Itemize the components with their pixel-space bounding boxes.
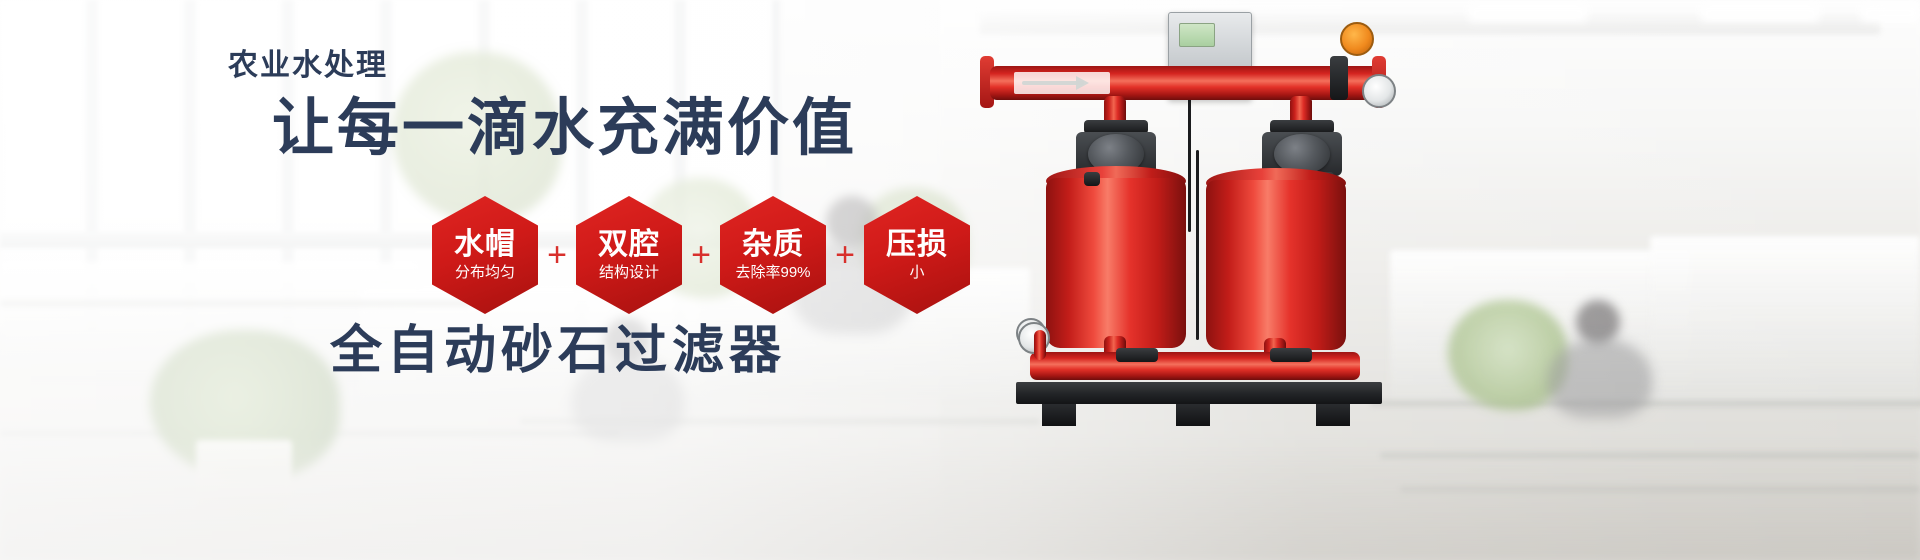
feature-title: 压损 bbox=[886, 229, 948, 261]
equipment-foot bbox=[1316, 404, 1350, 426]
equipment-cable bbox=[1196, 150, 1199, 340]
feature-title: 水帽 bbox=[454, 229, 516, 261]
product-banner: BAIYUAN bbox=[0, 0, 1920, 560]
feature-subtitle: 去除率99% bbox=[735, 265, 810, 282]
plus-separator: + bbox=[826, 238, 864, 272]
left-tank-body bbox=[1046, 178, 1186, 348]
controller-screen bbox=[1179, 23, 1215, 47]
product-subline: 全自动砂石过滤器 bbox=[330, 325, 786, 377]
hexagon-shape: 水帽 分布均匀 bbox=[432, 196, 538, 314]
feature-badge-3[interactable]: 压损 小 bbox=[864, 196, 970, 314]
feature-subtitle: 分布均匀 bbox=[455, 265, 515, 282]
feature-badge-1[interactable]: 双腔 结构设计 bbox=[576, 196, 682, 314]
gauge-stem bbox=[1034, 330, 1046, 360]
flow-arrow-shaft bbox=[1022, 81, 1084, 85]
left-tank-bolt bbox=[1084, 172, 1100, 186]
hexagon-shape: 杂质 去除率99% bbox=[720, 196, 826, 314]
manifold-collar bbox=[1270, 348, 1312, 362]
feature-badge-2[interactable]: 杂质 去除率99% bbox=[720, 196, 826, 314]
valve-collar bbox=[1330, 56, 1348, 100]
plus-separator: + bbox=[682, 238, 720, 272]
hexagon-shape: 压损 小 bbox=[864, 196, 970, 314]
feature-badge-row: 水帽 分布均匀 + 双腔 结构设计 + 杂质 去除率99% + bbox=[432, 196, 970, 314]
feature-subtitle: 小 bbox=[909, 265, 924, 282]
feature-subtitle: 结构设计 bbox=[599, 265, 659, 282]
equipment-foot bbox=[1176, 404, 1210, 426]
equipment-foot bbox=[1042, 404, 1076, 426]
pressure-gauge-top bbox=[1362, 74, 1396, 108]
manifold-collar bbox=[1116, 348, 1158, 362]
hexagon-shape: 双腔 结构设计 bbox=[576, 196, 682, 314]
flow-direction-label bbox=[1014, 72, 1110, 94]
sand-filter-equipment: BAIYUAN bbox=[1000, 0, 1520, 560]
feature-title: 双腔 bbox=[598, 229, 660, 261]
feature-badge-0[interactable]: 水帽 分布均匀 bbox=[432, 196, 538, 314]
eyebrow-title: 农业水处理 bbox=[228, 40, 388, 84]
equipment-base-frame bbox=[1016, 382, 1382, 404]
banner-copy: 农业水处理 让每一滴水充满价值 全自动砂石过滤器 水帽 分布均匀 + 双腔 结构… bbox=[0, 0, 1000, 560]
pressure-relief-valve bbox=[1340, 22, 1374, 56]
right-tank-body bbox=[1206, 180, 1346, 350]
main-headline: 让每一滴水充满价值 bbox=[272, 98, 857, 160]
plus-separator: + bbox=[538, 238, 576, 272]
feature-title: 杂质 bbox=[742, 229, 804, 261]
